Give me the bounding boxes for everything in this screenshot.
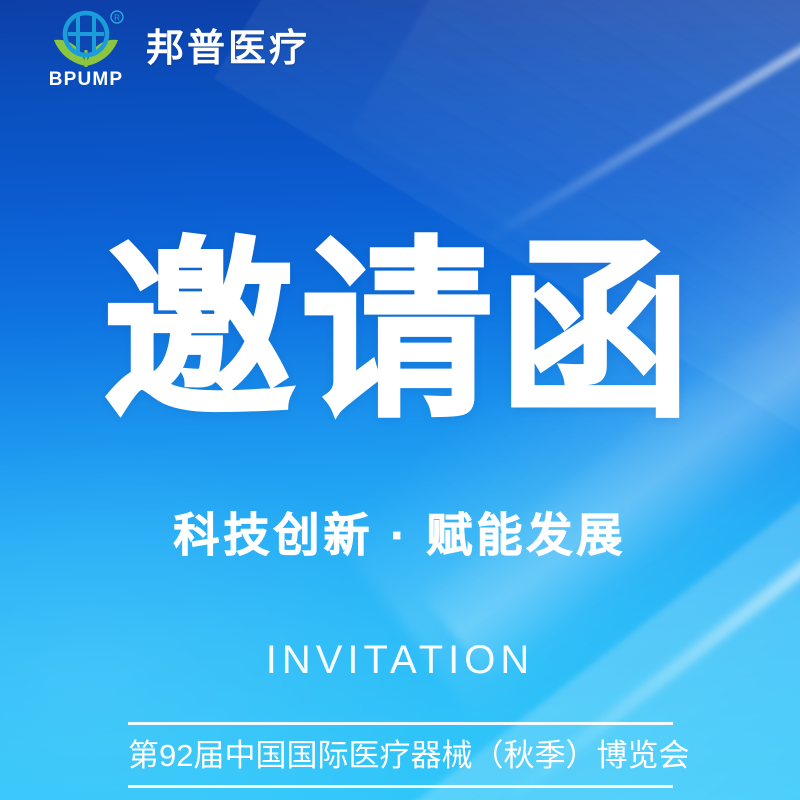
page-subtitle: 科技创新 · 赋能发展 bbox=[0, 508, 800, 563]
invitation-poster: R BPUMP 邦普医疗 邀请函 科技创新 · 赋能发展 INVITATION … bbox=[0, 0, 800, 800]
light-streak-top bbox=[482, 0, 800, 245]
registered-mark-glyph: R bbox=[114, 14, 120, 23]
event-name: 第92届中国国际医疗器械（秋季）博览会 bbox=[128, 725, 673, 785]
brand-header: R BPUMP 邦普医疗 bbox=[44, 10, 310, 88]
footer-rule-bottom bbox=[128, 785, 673, 788]
bpump-logo-icon: R BPUMP bbox=[44, 10, 128, 88]
logo-wordmark: BPUMP bbox=[49, 69, 124, 88]
page-title: 邀请函 bbox=[0, 236, 800, 428]
page-subtitle-english: INVITATION bbox=[0, 640, 800, 680]
brand-name: 邦普医疗 bbox=[146, 30, 310, 68]
footer-event-band: 第92届中国国际医疗器械（秋季）博览会 bbox=[128, 722, 673, 788]
